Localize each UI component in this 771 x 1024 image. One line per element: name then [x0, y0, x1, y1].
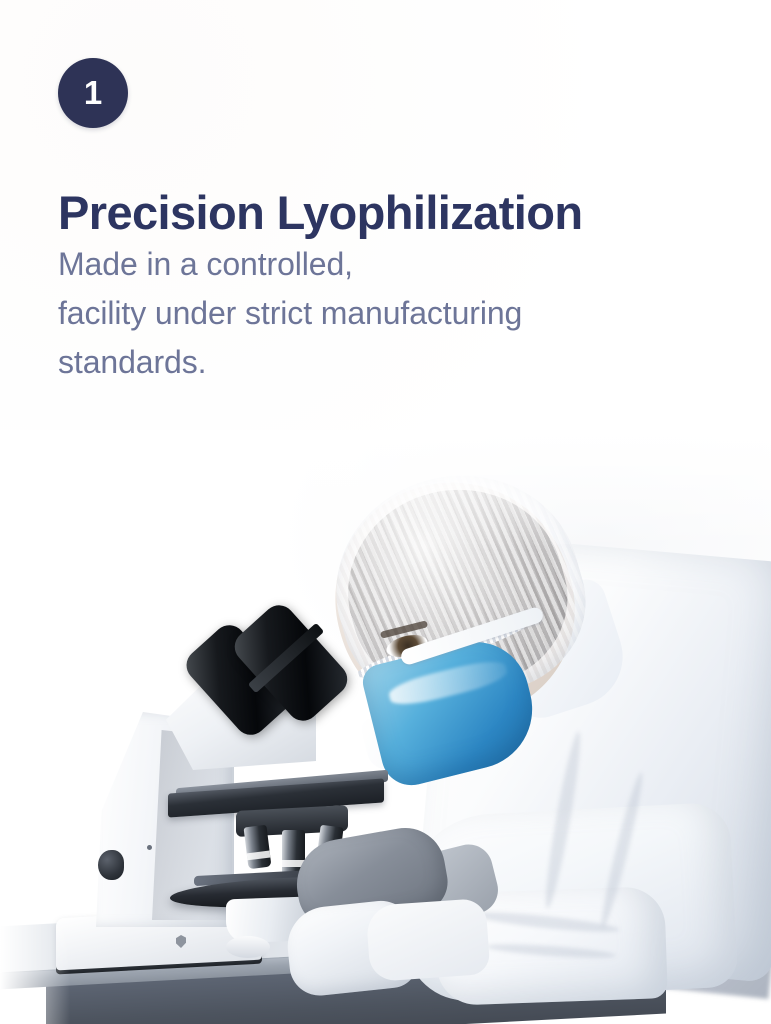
microscope-focus-knob: [98, 850, 124, 880]
step-number-badge: 1: [58, 58, 128, 128]
gloved-hand-lower-second: [365, 898, 490, 982]
microscope-objective: [244, 825, 272, 869]
feature-card: 1 Precision Lyophilization Made in a con…: [0, 0, 771, 1024]
objective-band: [247, 851, 271, 861]
step-number-label: 1: [84, 74, 102, 112]
page-title: Precision Lyophilization: [58, 186, 718, 240]
description-line-2: facility under strict manufacturing: [58, 289, 658, 338]
description-line-3: standards.: [58, 338, 658, 387]
lab-photo: [0, 430, 771, 1024]
description-text: Made in a controlled, facility under str…: [58, 240, 658, 387]
microscope-illuminator-knob: [226, 936, 270, 958]
microscope-indicator-dot: [147, 845, 152, 850]
description-line-1: Made in a controlled,: [58, 240, 658, 289]
